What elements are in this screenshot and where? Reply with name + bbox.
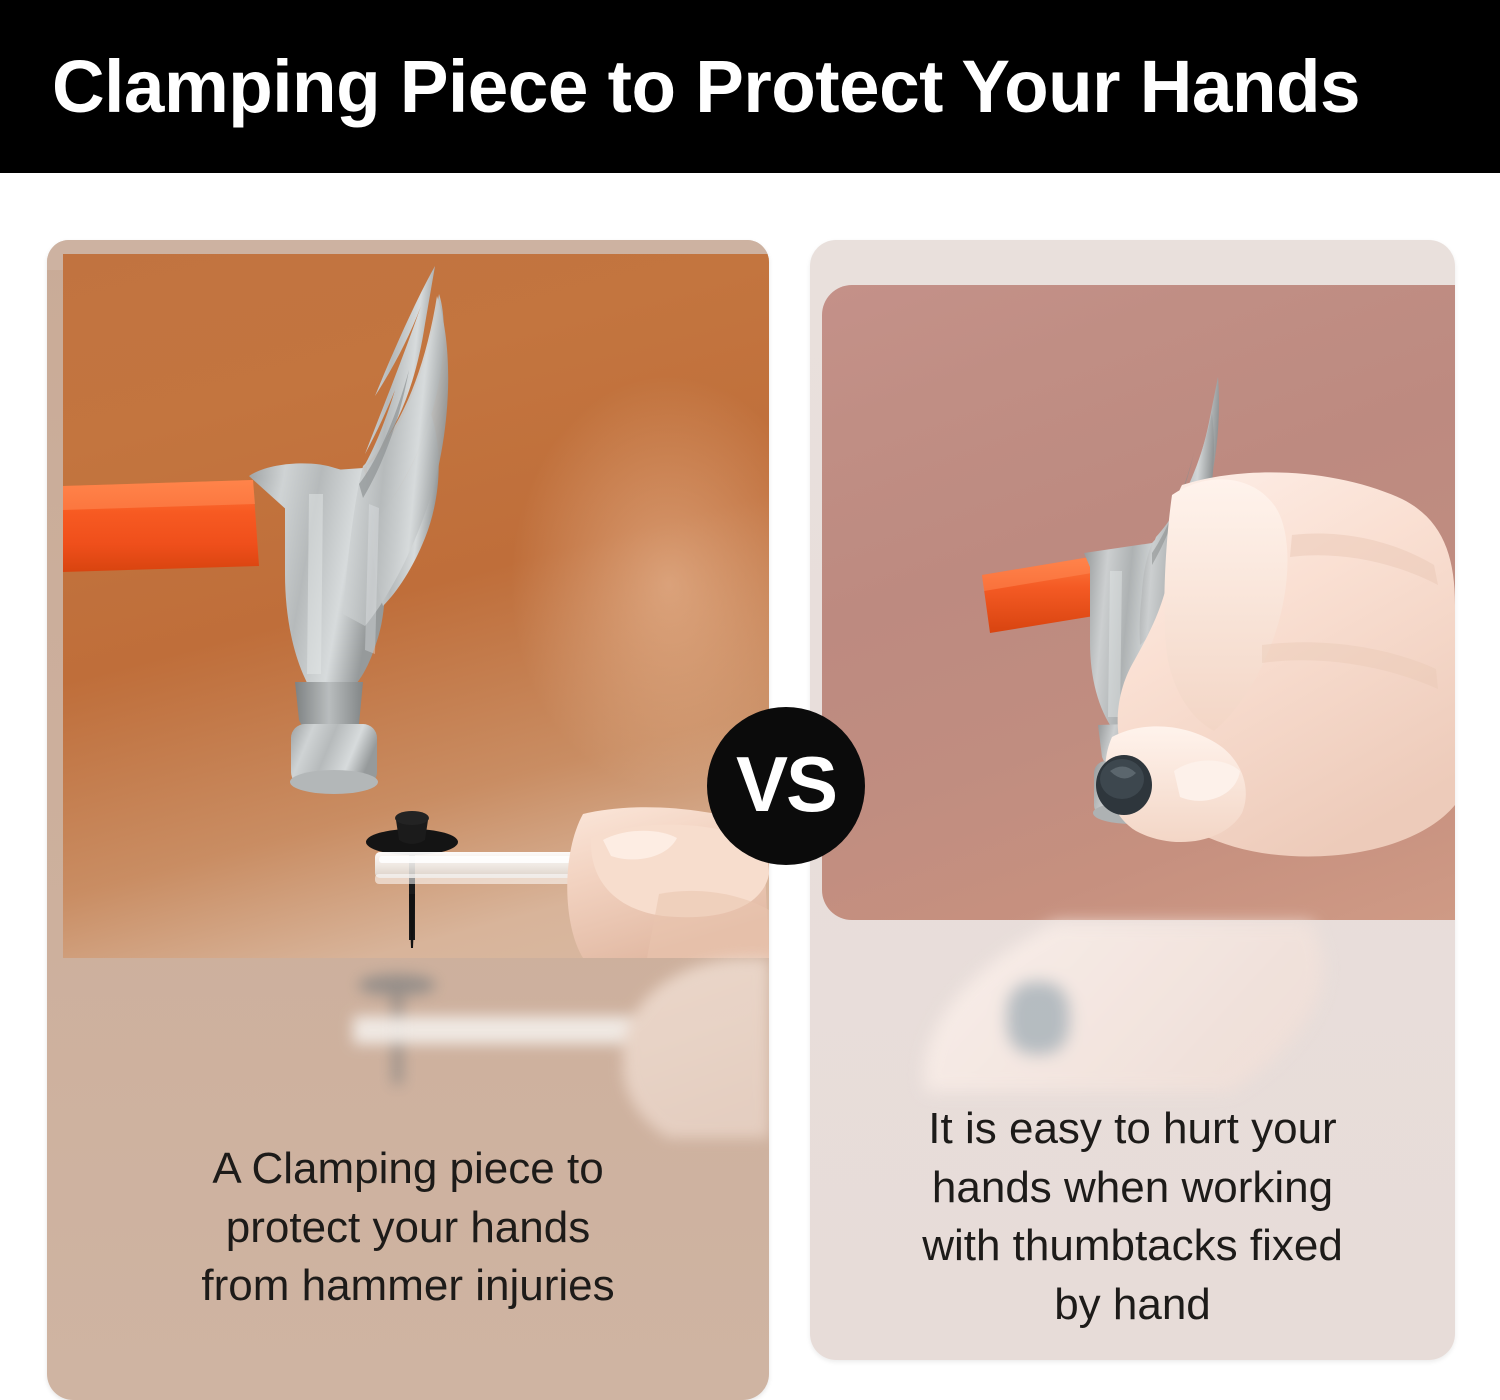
right-product-photo — [822, 285, 1455, 920]
blurred-tack — [1007, 982, 1069, 1054]
blurred-finger — [887, 922, 1358, 1092]
left-photo-blurred-extension — [63, 958, 769, 1138]
comparison-card-right: It is easy to hurt your hands when worki… — [810, 240, 1455, 1360]
right-caption-line-2: hands when working — [844, 1159, 1421, 1218]
comparison-area: A Clamping piece to protect your hands f… — [0, 173, 1500, 1400]
left-product-photo — [63, 254, 769, 958]
left-caption-line-2: protect your hands — [87, 1199, 729, 1258]
left-caption-line-1: A Clamping piece to — [87, 1140, 729, 1199]
left-caption: A Clamping piece to protect your hands f… — [87, 1140, 729, 1316]
right-caption-line-1: It is easy to hurt your — [844, 1100, 1421, 1159]
header-bar: Clamping Piece to Protect Your Hands — [0, 0, 1500, 173]
vs-badge: VS — [707, 707, 865, 865]
vs-badge-label: VS — [736, 745, 836, 823]
left-caption-line-3: from hammer injuries — [87, 1257, 729, 1316]
blurred-hand — [623, 958, 769, 1138]
right-photo-illustration — [822, 285, 1455, 920]
right-caption-line-4: by hand — [844, 1276, 1421, 1335]
left-photo-illustration — [63, 254, 769, 958]
comparison-card-left: A Clamping piece to protect your hands f… — [47, 240, 769, 1400]
page-title: Clamping Piece to Protect Your Hands — [52, 50, 1360, 124]
right-caption: It is easy to hurt your hands when worki… — [844, 1100, 1421, 1334]
right-photo-blurred-extension — [822, 922, 1455, 1092]
right-caption-line-3: with thumbtacks fixed — [844, 1217, 1421, 1276]
